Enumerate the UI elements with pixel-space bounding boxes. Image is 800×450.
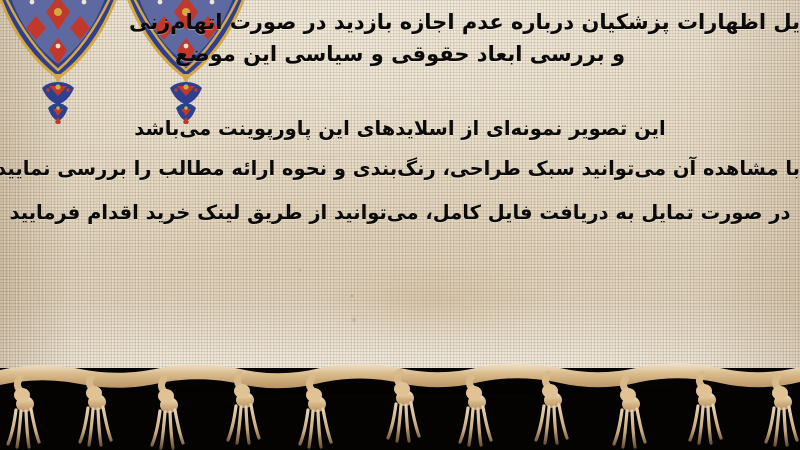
header-line-1: یل اظهارات پزشکیان درباره عدم اجازه بازد…	[129, 6, 800, 38]
body-line-2: با مشاهده آن می‌توانید سبک طراحی، رنگ‌بن…	[0, 152, 800, 186]
slide-canvas: یل اظهارات پزشکیان درباره عدم اجازه بازد…	[0, 0, 800, 450]
header-line-2: و بررسی ابعاد حقوقی و سیاسی این موضع	[0, 38, 800, 70]
knotted-tassel-fringe	[0, 352, 800, 450]
body-line-1: این تصویر نمونه‌ای از اسلایدهای این پاور…	[0, 112, 800, 146]
body-line-3: در صورت تمایل به دریافت فایل کامل، می‌تو…	[0, 196, 800, 230]
